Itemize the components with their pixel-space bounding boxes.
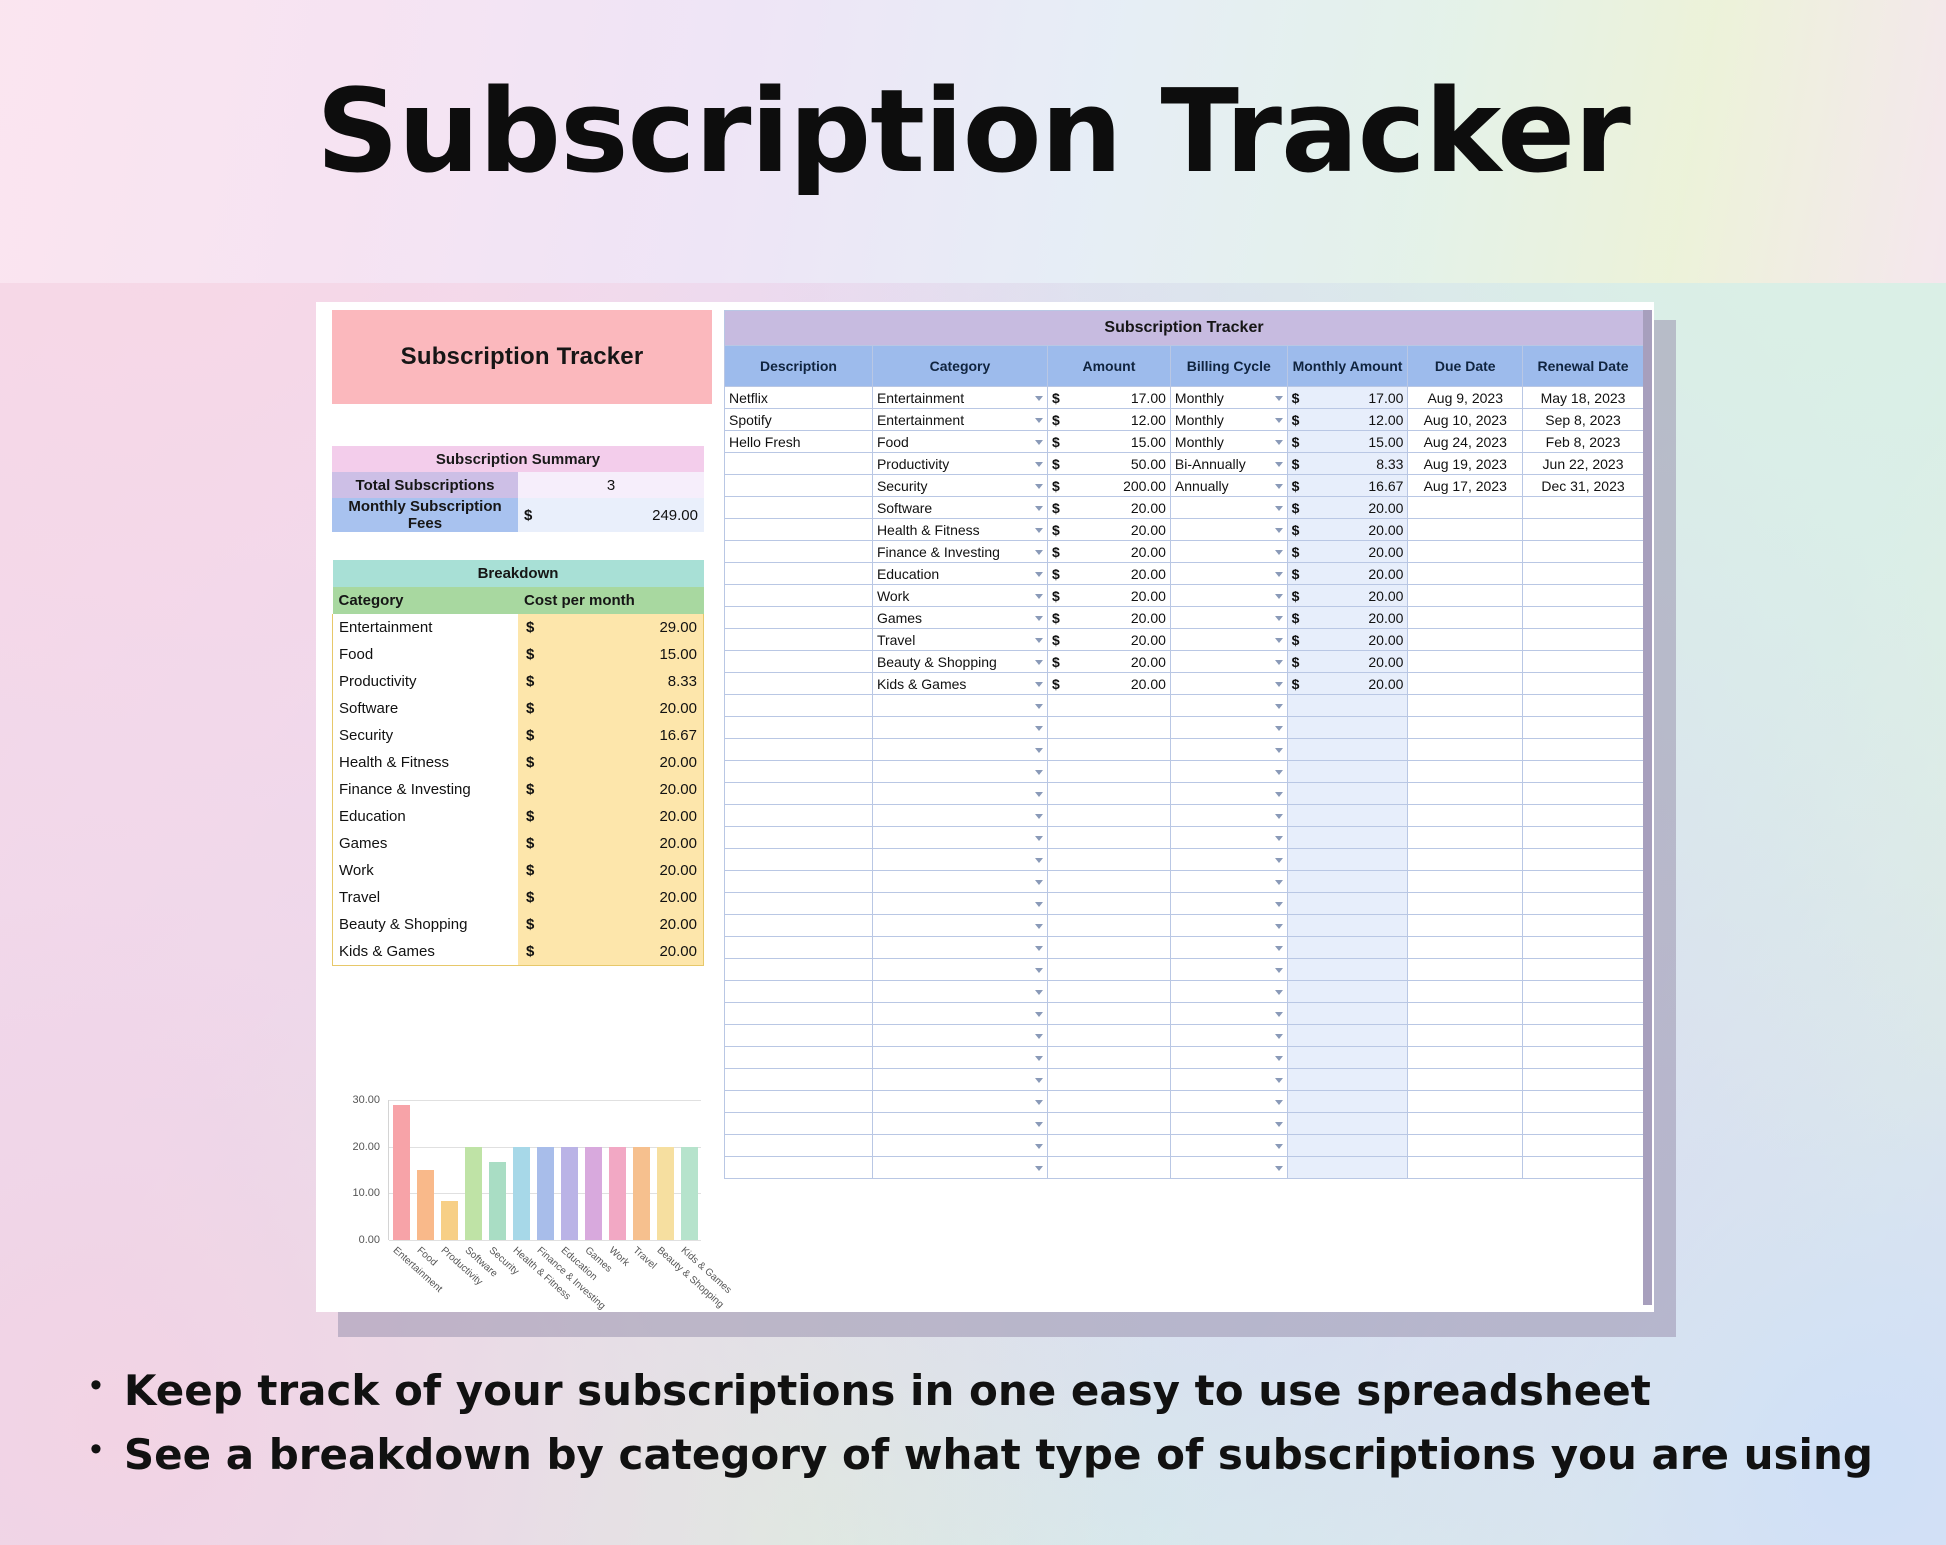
cell-renewal-date[interactable] xyxy=(1523,783,1644,805)
cell-due-date[interactable]: Aug 24, 2023 xyxy=(1408,431,1523,453)
chevron-down-icon[interactable] xyxy=(1035,990,1043,995)
cell-description[interactable] xyxy=(725,739,873,761)
cell-amount[interactable]: $15.00 xyxy=(1047,431,1170,453)
cell-renewal-date[interactable] xyxy=(1523,1047,1644,1069)
cell-category[interactable] xyxy=(872,783,1047,805)
cell-category[interactable] xyxy=(872,1069,1047,1091)
cell-monthly-amount[interactable]: $20.00 xyxy=(1287,651,1408,673)
cell-due-date[interactable] xyxy=(1408,893,1523,915)
cell-amount[interactable] xyxy=(1047,1069,1170,1091)
cell-monthly-amount[interactable] xyxy=(1287,1025,1408,1047)
cell-description[interactable] xyxy=(725,1047,873,1069)
cell-due-date[interactable] xyxy=(1408,1113,1523,1135)
cell-category[interactable] xyxy=(872,1157,1047,1179)
cell-renewal-date[interactable] xyxy=(1523,761,1644,783)
cell-due-date[interactable] xyxy=(1408,585,1523,607)
chevron-down-icon[interactable] xyxy=(1035,1166,1043,1171)
cell-monthly-amount[interactable]: $20.00 xyxy=(1287,519,1408,541)
cell-amount[interactable] xyxy=(1047,1091,1170,1113)
cell-category[interactable] xyxy=(872,739,1047,761)
chevron-down-icon[interactable] xyxy=(1035,1122,1043,1127)
cell-monthly-amount[interactable] xyxy=(1287,805,1408,827)
cell-category[interactable]: Beauty & Shopping xyxy=(872,651,1047,673)
chevron-down-icon[interactable] xyxy=(1035,594,1043,599)
cell-amount[interactable] xyxy=(1047,1113,1170,1135)
chevron-down-icon[interactable] xyxy=(1035,792,1043,797)
column-header[interactable]: Amount xyxy=(1047,346,1170,387)
cell-due-date[interactable]: Aug 17, 2023 xyxy=(1408,475,1523,497)
cell-monthly-amount[interactable]: $20.00 xyxy=(1287,585,1408,607)
cell-renewal-date[interactable] xyxy=(1523,1025,1644,1047)
cell-category[interactable] xyxy=(872,915,1047,937)
cell-due-date[interactable] xyxy=(1408,1025,1523,1047)
chevron-down-icon[interactable] xyxy=(1275,704,1283,709)
chevron-down-icon[interactable] xyxy=(1035,968,1043,973)
cell-renewal-date[interactable]: Feb 8, 2023 xyxy=(1523,431,1644,453)
chevron-down-icon[interactable] xyxy=(1035,748,1043,753)
cell-due-date[interactable] xyxy=(1408,607,1523,629)
cell-description[interactable] xyxy=(725,783,873,805)
chevron-down-icon[interactable] xyxy=(1275,572,1283,577)
cell-due-date[interactable] xyxy=(1408,673,1523,695)
chevron-down-icon[interactable] xyxy=(1275,924,1283,929)
cell-monthly-amount[interactable] xyxy=(1287,981,1408,1003)
cell-amount[interactable] xyxy=(1047,827,1170,849)
cell-category[interactable] xyxy=(872,1025,1047,1047)
cell-amount[interactable] xyxy=(1047,915,1170,937)
cell-renewal-date[interactable] xyxy=(1523,915,1644,937)
chevron-down-icon[interactable] xyxy=(1275,682,1283,687)
cell-amount[interactable]: $20.00 xyxy=(1047,563,1170,585)
cell-renewal-date[interactable] xyxy=(1523,585,1644,607)
cell-due-date[interactable] xyxy=(1408,915,1523,937)
cell-billing-cycle[interactable] xyxy=(1170,519,1287,541)
cell-monthly-amount[interactable]: $20.00 xyxy=(1287,629,1408,651)
cell-amount[interactable] xyxy=(1047,981,1170,1003)
chevron-down-icon[interactable] xyxy=(1275,1012,1283,1017)
cell-billing-cycle[interactable]: Monthly xyxy=(1170,431,1287,453)
cell-category[interactable] xyxy=(872,937,1047,959)
cell-due-date[interactable] xyxy=(1408,739,1523,761)
cell-description[interactable]: Netflix xyxy=(725,387,873,409)
cell-renewal-date[interactable] xyxy=(1523,563,1644,585)
cell-category[interactable] xyxy=(872,761,1047,783)
cell-description[interactable] xyxy=(725,717,873,739)
chevron-down-icon[interactable] xyxy=(1275,506,1283,511)
cell-category[interactable]: Entertainment xyxy=(872,387,1047,409)
cell-category[interactable]: Food xyxy=(872,431,1047,453)
cell-billing-cycle[interactable] xyxy=(1170,651,1287,673)
cell-monthly-amount[interactable] xyxy=(1287,695,1408,717)
cell-amount[interactable]: $20.00 xyxy=(1047,651,1170,673)
cell-amount[interactable]: $50.00 xyxy=(1047,453,1170,475)
cell-amount[interactable]: $12.00 xyxy=(1047,409,1170,431)
chevron-down-icon[interactable] xyxy=(1035,946,1043,951)
cell-due-date[interactable] xyxy=(1408,761,1523,783)
cell-renewal-date[interactable] xyxy=(1523,717,1644,739)
cell-category[interactable] xyxy=(872,893,1047,915)
cell-amount[interactable] xyxy=(1047,1025,1170,1047)
chevron-down-icon[interactable] xyxy=(1035,616,1043,621)
cell-billing-cycle[interactable] xyxy=(1170,1135,1287,1157)
cell-description[interactable] xyxy=(725,541,873,563)
cell-billing-cycle[interactable]: Monthly xyxy=(1170,409,1287,431)
cell-renewal-date[interactable] xyxy=(1523,1003,1644,1025)
chevron-down-icon[interactable] xyxy=(1275,660,1283,665)
cell-renewal-date[interactable] xyxy=(1523,849,1644,871)
cell-due-date[interactable] xyxy=(1408,629,1523,651)
cell-due-date[interactable] xyxy=(1408,651,1523,673)
chevron-down-icon[interactable] xyxy=(1035,528,1043,533)
cell-monthly-amount[interactable]: $15.00 xyxy=(1287,431,1408,453)
cell-renewal-date[interactable]: May 18, 2023 xyxy=(1523,387,1644,409)
cell-billing-cycle[interactable] xyxy=(1170,607,1287,629)
chevron-down-icon[interactable] xyxy=(1275,1100,1283,1105)
cell-description[interactable] xyxy=(725,1157,873,1179)
cell-billing-cycle[interactable] xyxy=(1170,981,1287,1003)
chevron-down-icon[interactable] xyxy=(1275,550,1283,555)
cell-due-date[interactable] xyxy=(1408,1003,1523,1025)
chevron-down-icon[interactable] xyxy=(1275,528,1283,533)
cell-description[interactable]: Spotify xyxy=(725,409,873,431)
cell-monthly-amount[interactable]: $20.00 xyxy=(1287,541,1408,563)
cell-category[interactable] xyxy=(872,849,1047,871)
cell-amount[interactable] xyxy=(1047,805,1170,827)
cell-description[interactable] xyxy=(725,871,873,893)
cell-description[interactable] xyxy=(725,475,873,497)
cell-billing-cycle[interactable] xyxy=(1170,1003,1287,1025)
vertical-scrollbar[interactable] xyxy=(1643,310,1652,1305)
cell-amount[interactable] xyxy=(1047,937,1170,959)
cell-renewal-date[interactable] xyxy=(1523,1135,1644,1157)
cell-due-date[interactable] xyxy=(1408,827,1523,849)
cell-monthly-amount[interactable] xyxy=(1287,1113,1408,1135)
cell-monthly-amount[interactable] xyxy=(1287,761,1408,783)
cell-category[interactable] xyxy=(872,805,1047,827)
cell-category[interactable] xyxy=(872,1047,1047,1069)
cell-renewal-date[interactable] xyxy=(1523,1091,1644,1113)
cell-due-date[interactable] xyxy=(1408,959,1523,981)
chevron-down-icon[interactable] xyxy=(1035,704,1043,709)
cell-renewal-date[interactable]: Jun 22, 2023 xyxy=(1523,453,1644,475)
chevron-down-icon[interactable] xyxy=(1035,550,1043,555)
cell-billing-cycle[interactable] xyxy=(1170,1113,1287,1135)
cell-due-date[interactable] xyxy=(1408,1047,1523,1069)
cell-billing-cycle[interactable] xyxy=(1170,739,1287,761)
cell-monthly-amount[interactable] xyxy=(1287,1003,1408,1025)
cell-billing-cycle[interactable] xyxy=(1170,849,1287,871)
chevron-down-icon[interactable] xyxy=(1275,1166,1283,1171)
cell-description[interactable] xyxy=(725,651,873,673)
chevron-down-icon[interactable] xyxy=(1275,748,1283,753)
cell-category[interactable] xyxy=(872,871,1047,893)
chevron-down-icon[interactable] xyxy=(1275,858,1283,863)
cell-description[interactable] xyxy=(725,1025,873,1047)
chevron-down-icon[interactable] xyxy=(1035,1034,1043,1039)
cell-monthly-amount[interactable] xyxy=(1287,1157,1408,1179)
cell-description[interactable] xyxy=(725,563,873,585)
cell-billing-cycle[interactable] xyxy=(1170,673,1287,695)
cell-category[interactable] xyxy=(872,717,1047,739)
column-header[interactable]: Description xyxy=(725,346,873,387)
column-header[interactable]: Renewal Date xyxy=(1523,346,1644,387)
cell-monthly-amount[interactable] xyxy=(1287,1135,1408,1157)
cell-description[interactable] xyxy=(725,1091,873,1113)
chevron-down-icon[interactable] xyxy=(1275,1034,1283,1039)
chevron-down-icon[interactable] xyxy=(1275,792,1283,797)
column-header[interactable]: Category xyxy=(872,346,1047,387)
cell-billing-cycle[interactable] xyxy=(1170,805,1287,827)
cell-billing-cycle[interactable] xyxy=(1170,541,1287,563)
cell-renewal-date[interactable] xyxy=(1523,1069,1644,1091)
cell-description[interactable] xyxy=(725,893,873,915)
cell-amount[interactable] xyxy=(1047,739,1170,761)
cell-due-date[interactable] xyxy=(1408,519,1523,541)
cell-amount[interactable]: $20.00 xyxy=(1047,673,1170,695)
chevron-down-icon[interactable] xyxy=(1035,1100,1043,1105)
cell-monthly-amount[interactable] xyxy=(1287,937,1408,959)
chevron-down-icon[interactable] xyxy=(1035,770,1043,775)
cell-category[interactable] xyxy=(872,1003,1047,1025)
cell-amount[interactable] xyxy=(1047,1003,1170,1025)
cell-billing-cycle[interactable] xyxy=(1170,1157,1287,1179)
cell-due-date[interactable] xyxy=(1408,717,1523,739)
chevron-down-icon[interactable] xyxy=(1275,726,1283,731)
cell-billing-cycle[interactable]: Annually xyxy=(1170,475,1287,497)
chevron-down-icon[interactable] xyxy=(1035,880,1043,885)
cell-monthly-amount[interactable] xyxy=(1287,783,1408,805)
cell-amount[interactable] xyxy=(1047,871,1170,893)
cell-renewal-date[interactable] xyxy=(1523,827,1644,849)
cell-amount[interactable]: $20.00 xyxy=(1047,607,1170,629)
cell-amount[interactable]: $20.00 xyxy=(1047,541,1170,563)
cell-billing-cycle[interactable] xyxy=(1170,937,1287,959)
chevron-down-icon[interactable] xyxy=(1275,836,1283,841)
cell-category[interactable]: Security xyxy=(872,475,1047,497)
cell-category[interactable] xyxy=(872,1113,1047,1135)
chevron-down-icon[interactable] xyxy=(1275,594,1283,599)
cell-billing-cycle[interactable] xyxy=(1170,959,1287,981)
chevron-down-icon[interactable] xyxy=(1035,660,1043,665)
column-header[interactable]: Monthly Amount xyxy=(1287,346,1408,387)
cell-amount[interactable] xyxy=(1047,849,1170,871)
cell-amount[interactable] xyxy=(1047,783,1170,805)
cell-description[interactable]: Hello Fresh xyxy=(725,431,873,453)
cell-amount[interactable] xyxy=(1047,893,1170,915)
cell-amount[interactable] xyxy=(1047,695,1170,717)
cell-renewal-date[interactable] xyxy=(1523,519,1644,541)
cell-monthly-amount[interactable]: $20.00 xyxy=(1287,563,1408,585)
chevron-down-icon[interactable] xyxy=(1035,858,1043,863)
cell-due-date[interactable] xyxy=(1408,849,1523,871)
cell-renewal-date[interactable]: Sep 8, 2023 xyxy=(1523,409,1644,431)
chevron-down-icon[interactable] xyxy=(1035,924,1043,929)
chevron-down-icon[interactable] xyxy=(1275,1122,1283,1127)
chevron-down-icon[interactable] xyxy=(1035,1144,1043,1149)
cell-billing-cycle[interactable] xyxy=(1170,717,1287,739)
chevron-down-icon[interactable] xyxy=(1275,880,1283,885)
cell-description[interactable] xyxy=(725,585,873,607)
cell-billing-cycle[interactable] xyxy=(1170,871,1287,893)
cell-renewal-date[interactable] xyxy=(1523,673,1644,695)
cell-description[interactable] xyxy=(725,607,873,629)
cell-description[interactable] xyxy=(725,1135,873,1157)
cell-monthly-amount[interactable] xyxy=(1287,1091,1408,1113)
chevron-down-icon[interactable] xyxy=(1035,726,1043,731)
cell-monthly-amount[interactable]: $8.33 xyxy=(1287,453,1408,475)
chevron-down-icon[interactable] xyxy=(1275,990,1283,995)
cell-billing-cycle[interactable] xyxy=(1170,563,1287,585)
cell-renewal-date[interactable] xyxy=(1523,1113,1644,1135)
cell-billing-cycle[interactable]: Bi-Annually xyxy=(1170,453,1287,475)
cell-billing-cycle[interactable] xyxy=(1170,585,1287,607)
cell-description[interactable] xyxy=(725,497,873,519)
cell-renewal-date[interactable] xyxy=(1523,629,1644,651)
cell-monthly-amount[interactable]: $16.67 xyxy=(1287,475,1408,497)
cell-monthly-amount[interactable] xyxy=(1287,827,1408,849)
cell-billing-cycle[interactable] xyxy=(1170,761,1287,783)
cell-amount[interactable] xyxy=(1047,1157,1170,1179)
cell-amount[interactable]: $20.00 xyxy=(1047,585,1170,607)
cell-description[interactable] xyxy=(725,1113,873,1135)
cell-billing-cycle[interactable] xyxy=(1170,1069,1287,1091)
cell-amount[interactable] xyxy=(1047,959,1170,981)
cell-monthly-amount[interactable]: $17.00 xyxy=(1287,387,1408,409)
chevron-down-icon[interactable] xyxy=(1035,440,1043,445)
cell-description[interactable] xyxy=(725,519,873,541)
chevron-down-icon[interactable] xyxy=(1275,1056,1283,1061)
cell-amount[interactable]: $20.00 xyxy=(1047,519,1170,541)
cell-description[interactable] xyxy=(725,915,873,937)
cell-description[interactable] xyxy=(725,1069,873,1091)
cell-description[interactable] xyxy=(725,761,873,783)
cell-monthly-amount[interactable]: $20.00 xyxy=(1287,673,1408,695)
chevron-down-icon[interactable] xyxy=(1275,902,1283,907)
chevron-down-icon[interactable] xyxy=(1035,484,1043,489)
cell-amount[interactable]: $20.00 xyxy=(1047,497,1170,519)
cell-renewal-date[interactable] xyxy=(1523,981,1644,1003)
cell-renewal-date[interactable] xyxy=(1523,651,1644,673)
chevron-down-icon[interactable] xyxy=(1275,462,1283,467)
cell-description[interactable] xyxy=(725,937,873,959)
cell-due-date[interactable] xyxy=(1408,1157,1523,1179)
cell-due-date[interactable] xyxy=(1408,805,1523,827)
cell-due-date[interactable]: Aug 19, 2023 xyxy=(1408,453,1523,475)
cell-amount[interactable]: $200.00 xyxy=(1047,475,1170,497)
chevron-down-icon[interactable] xyxy=(1035,462,1043,467)
cell-renewal-date[interactable] xyxy=(1523,871,1644,893)
cell-description[interactable] xyxy=(725,849,873,871)
cell-due-date[interactable] xyxy=(1408,1069,1523,1091)
cell-description[interactable] xyxy=(725,673,873,695)
cell-due-date[interactable] xyxy=(1408,981,1523,1003)
cell-due-date[interactable] xyxy=(1408,1135,1523,1157)
cell-monthly-amount[interactable]: $20.00 xyxy=(1287,497,1408,519)
chevron-down-icon[interactable] xyxy=(1035,814,1043,819)
cell-billing-cycle[interactable] xyxy=(1170,695,1287,717)
cell-description[interactable] xyxy=(725,453,873,475)
cell-amount[interactable]: $17.00 xyxy=(1047,387,1170,409)
chevron-down-icon[interactable] xyxy=(1275,440,1283,445)
cell-monthly-amount[interactable] xyxy=(1287,739,1408,761)
cell-renewal-date[interactable] xyxy=(1523,497,1644,519)
cell-renewal-date[interactable]: Dec 31, 2023 xyxy=(1523,475,1644,497)
cell-renewal-date[interactable] xyxy=(1523,1157,1644,1179)
cell-renewal-date[interactable] xyxy=(1523,805,1644,827)
cell-monthly-amount[interactable] xyxy=(1287,915,1408,937)
cell-due-date[interactable]: Aug 10, 2023 xyxy=(1408,409,1523,431)
cell-billing-cycle[interactable] xyxy=(1170,827,1287,849)
cell-category[interactable] xyxy=(872,827,1047,849)
chevron-down-icon[interactable] xyxy=(1035,682,1043,687)
summary-value[interactable]: $249.00 xyxy=(518,498,704,532)
cell-category[interactable] xyxy=(872,695,1047,717)
cell-billing-cycle[interactable] xyxy=(1170,1025,1287,1047)
cell-monthly-amount[interactable] xyxy=(1287,1047,1408,1069)
cell-monthly-amount[interactable] xyxy=(1287,959,1408,981)
column-header[interactable]: Due Date xyxy=(1408,346,1523,387)
cell-monthly-amount[interactable] xyxy=(1287,1069,1408,1091)
cell-due-date[interactable] xyxy=(1408,497,1523,519)
cell-billing-cycle[interactable] xyxy=(1170,1047,1287,1069)
cell-due-date[interactable] xyxy=(1408,563,1523,585)
cell-billing-cycle[interactable] xyxy=(1170,915,1287,937)
cell-billing-cycle[interactable] xyxy=(1170,893,1287,915)
cell-renewal-date[interactable] xyxy=(1523,893,1644,915)
chevron-down-icon[interactable] xyxy=(1035,836,1043,841)
chevron-down-icon[interactable] xyxy=(1275,418,1283,423)
cell-amount[interactable]: $20.00 xyxy=(1047,629,1170,651)
chevron-down-icon[interactable] xyxy=(1275,638,1283,643)
cell-description[interactable] xyxy=(725,805,873,827)
chevron-down-icon[interactable] xyxy=(1035,1056,1043,1061)
chevron-down-icon[interactable] xyxy=(1275,616,1283,621)
cell-monthly-amount[interactable] xyxy=(1287,717,1408,739)
cell-description[interactable] xyxy=(725,629,873,651)
summary-value[interactable]: 3 xyxy=(518,472,704,498)
cell-category[interactable] xyxy=(872,1135,1047,1157)
cell-description[interactable] xyxy=(725,981,873,1003)
cell-category[interactable] xyxy=(872,981,1047,1003)
chevron-down-icon[interactable] xyxy=(1275,770,1283,775)
chevron-down-icon[interactable] xyxy=(1275,484,1283,489)
cell-category[interactable]: Kids & Games xyxy=(872,673,1047,695)
cell-renewal-date[interactable] xyxy=(1523,541,1644,563)
chevron-down-icon[interactable] xyxy=(1035,902,1043,907)
cell-amount[interactable] xyxy=(1047,1047,1170,1069)
cell-monthly-amount[interactable] xyxy=(1287,871,1408,893)
cell-billing-cycle[interactable] xyxy=(1170,497,1287,519)
cell-billing-cycle[interactable] xyxy=(1170,1091,1287,1113)
cell-renewal-date[interactable] xyxy=(1523,937,1644,959)
cell-billing-cycle[interactable] xyxy=(1170,783,1287,805)
chevron-down-icon[interactable] xyxy=(1275,1144,1283,1149)
column-header[interactable]: Billing Cycle xyxy=(1170,346,1287,387)
chevron-down-icon[interactable] xyxy=(1275,946,1283,951)
cell-monthly-amount[interactable]: $20.00 xyxy=(1287,607,1408,629)
chevron-down-icon[interactable] xyxy=(1035,1078,1043,1083)
cell-description[interactable] xyxy=(725,959,873,981)
cell-category[interactable]: Entertainment xyxy=(872,409,1047,431)
cell-description[interactable] xyxy=(725,695,873,717)
cell-due-date[interactable]: Aug 9, 2023 xyxy=(1408,387,1523,409)
chevron-down-icon[interactable] xyxy=(1035,418,1043,423)
cell-description[interactable] xyxy=(725,1003,873,1025)
cell-category[interactable]: Productivity xyxy=(872,453,1047,475)
cell-renewal-date[interactable] xyxy=(1523,695,1644,717)
chevron-down-icon[interactable] xyxy=(1275,968,1283,973)
cell-due-date[interactable] xyxy=(1408,783,1523,805)
